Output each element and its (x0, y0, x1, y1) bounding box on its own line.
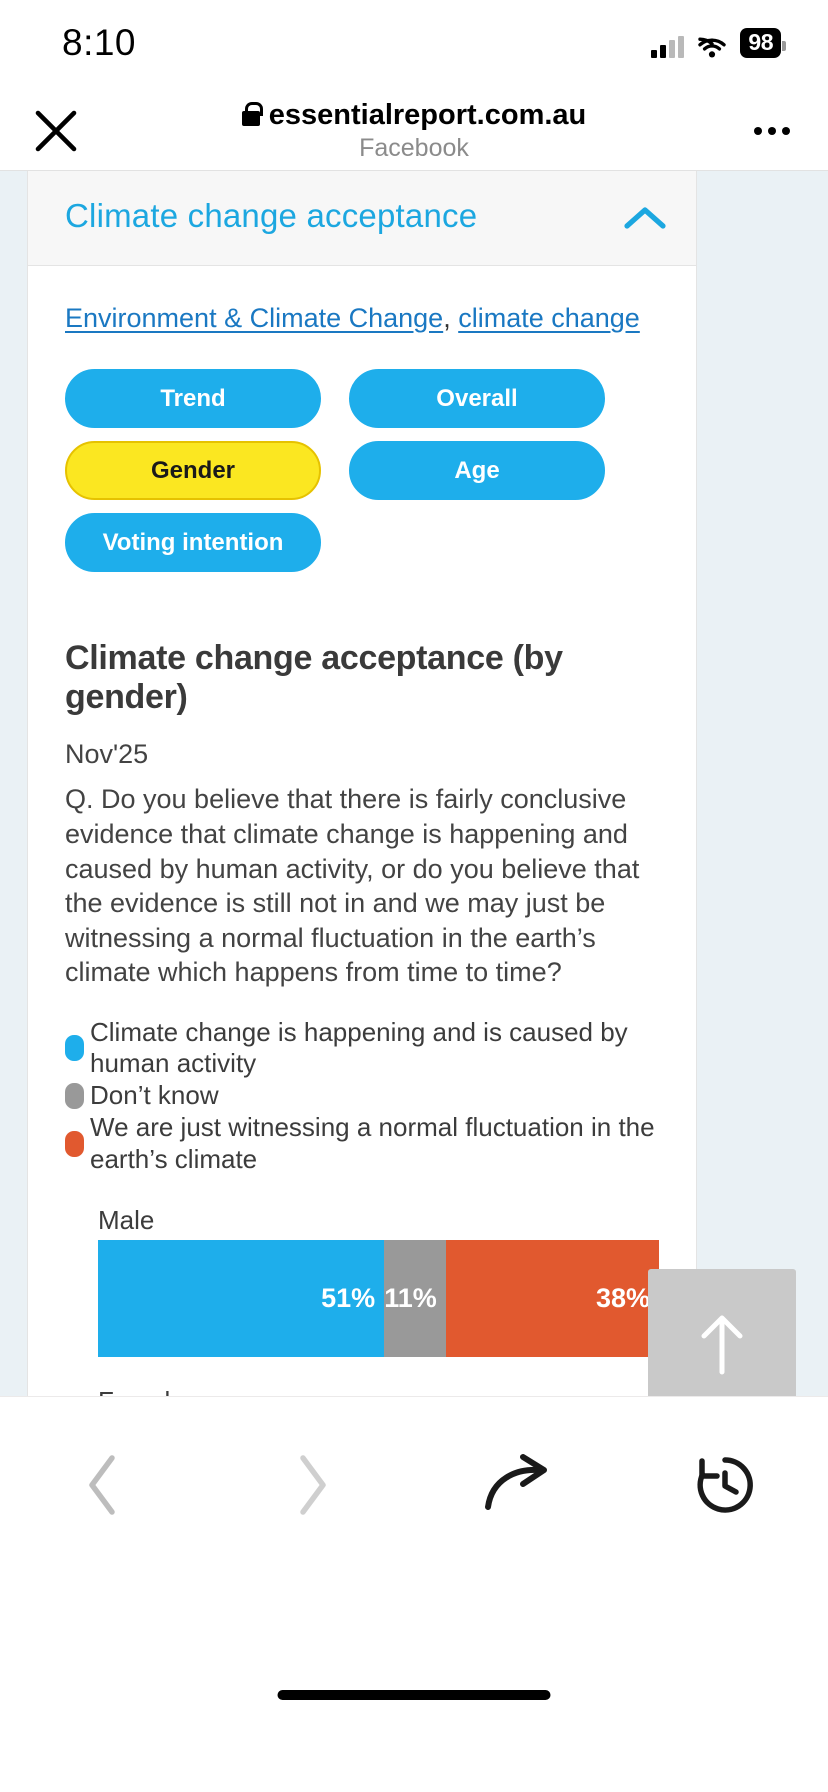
legend-swatch-grey-icon (65, 1083, 84, 1109)
bar-spacer (98, 1357, 659, 1386)
chart-plot-area: Male 51% 11% 38% Female 53% 21% 26% (65, 1205, 659, 1396)
browser-domain-label: essentialreport.com.au (269, 99, 587, 132)
legend-swatch-orange-icon (65, 1131, 84, 1157)
status-bar-indicators: 98 (651, 28, 786, 58)
bar-category-label: Female (98, 1386, 659, 1396)
legend-label: We are just witnessing a normal fluctuat… (90, 1112, 659, 1175)
browser-bottom-toolbar (0, 1396, 828, 1726)
browser-header: essentialreport.com.au Facebook (0, 92, 828, 170)
chart-legend: Climate change is happening and is cause… (65, 1017, 659, 1176)
legend-item: Don’t know (65, 1080, 659, 1112)
legend-item: Climate change is happening and is cause… (65, 1017, 659, 1080)
filter-button-group: Trend Overall Gender Age Voting intentio… (65, 369, 659, 572)
forward-button[interactable] (207, 1425, 414, 1545)
browser-title-block[interactable]: essentialreport.com.au Facebook (242, 99, 587, 163)
legend-item: We are just witnessing a normal fluctuat… (65, 1112, 659, 1175)
more-options-icon[interactable] (742, 101, 802, 161)
legend-label: Climate change is happening and is cause… (90, 1017, 659, 1080)
chart-question: Q. Do you believe that there is fairly c… (65, 782, 659, 989)
chart-title: Climate change acceptance (by gender) (65, 639, 659, 717)
chart-subtitle: Nov'25 (65, 739, 659, 770)
breadcrumb-item-environment[interactable]: Environment & Climate Change (65, 303, 443, 333)
share-button[interactable] (414, 1425, 621, 1545)
wifi-icon (697, 36, 727, 58)
filter-button-trend[interactable]: Trend (65, 369, 321, 428)
bar-category-label: Male (98, 1205, 659, 1236)
breadcrumb-separator: , (443, 303, 458, 333)
cellular-bars-icon (651, 36, 684, 58)
web-page-viewport: Climate change acceptance Environment & … (0, 170, 828, 1396)
bar-segment-male-dontknow[interactable]: 11% (384, 1240, 446, 1357)
filter-button-age[interactable]: Age (349, 441, 605, 500)
chevron-right-icon (289, 1450, 333, 1520)
battery-tip (782, 41, 786, 51)
legend-swatch-blue-icon (65, 1035, 84, 1061)
close-icon[interactable] (26, 101, 86, 161)
bar-segment-male-fluctuation[interactable]: 38% (446, 1240, 659, 1357)
chevron-left-icon (82, 1450, 126, 1520)
history-button[interactable] (621, 1425, 828, 1545)
filter-button-voting-intention[interactable]: Voting intention (65, 513, 321, 572)
arrow-up-icon (694, 1310, 750, 1376)
page-title: Climate change acceptance (65, 197, 477, 235)
browser-app-name: Facebook (242, 134, 587, 163)
breadcrumb-item-climate-change[interactable]: climate change (458, 303, 640, 333)
status-bar-time: 8:10 (62, 22, 136, 64)
history-clock-icon (692, 1452, 758, 1518)
back-button[interactable] (0, 1425, 207, 1545)
bar-group-female: Female 53% 21% 26% (98, 1386, 659, 1396)
table-row: 51% 11% 38% (98, 1240, 659, 1357)
filter-button-gender[interactable]: Gender (65, 441, 321, 500)
breadcrumb: Environment & Climate Change, climate ch… (65, 300, 659, 336)
browser-url[interactable]: essentialreport.com.au (242, 99, 587, 132)
home-indicator (278, 1690, 551, 1700)
share-arrow-icon (482, 1453, 554, 1517)
chevron-up-icon[interactable] (624, 205, 666, 231)
battery-icon: 98 (740, 28, 781, 58)
card-body: Environment & Climate Change, climate ch… (28, 266, 696, 1396)
scroll-to-top-button[interactable] (648, 1269, 796, 1396)
card-header-toggle[interactable]: Climate change acceptance (28, 171, 696, 266)
bar-group-male: Male 51% 11% 38% (98, 1205, 659, 1357)
bar-segment-male-agree[interactable]: 51% (98, 1240, 384, 1357)
report-card: Climate change acceptance Environment & … (27, 171, 697, 1396)
lock-icon (242, 111, 260, 126)
status-bar: 8:10 98 (0, 0, 828, 92)
legend-label: Don’t know (90, 1080, 219, 1112)
filter-button-overall[interactable]: Overall (349, 369, 605, 428)
